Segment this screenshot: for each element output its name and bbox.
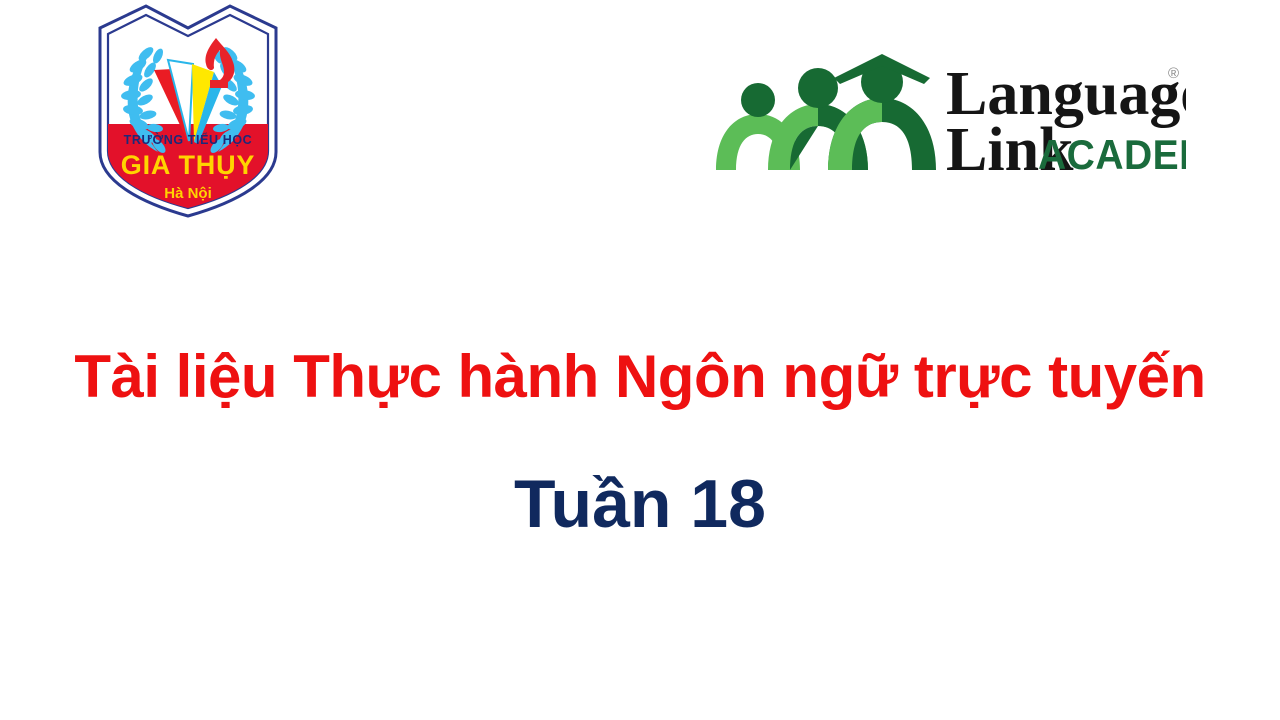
slide-canvas: TRƯỜNG TIỂU HỌC GIA THỤY Hà Nội (0, 0, 1280, 720)
crest-line-3: Hà Nội (164, 185, 212, 202)
page-title: Tài liệu Thực hành Ngôn ngữ trực tuyến (0, 340, 1280, 414)
crest-line-1: TRƯỜNG TIỂU HỌC (124, 132, 253, 147)
school-crest-logo: TRƯỜNG TIỂU HỌC GIA THỤY Hà Nội (88, 2, 288, 220)
language-link-academic-logo: Language ® Link ACADEMIC (706, 52, 1186, 178)
title-block: Tài liệu Thực hành Ngôn ngữ trực tuyến T… (0, 340, 1280, 546)
three-people-icon (716, 54, 936, 170)
logo-word-academic: ACADEMIC (1038, 131, 1186, 178)
registered-mark: ® (1168, 65, 1179, 82)
week-subtitle: Tuần 18 (0, 414, 1280, 546)
crest-line-2: GIA THỤY (121, 150, 255, 180)
